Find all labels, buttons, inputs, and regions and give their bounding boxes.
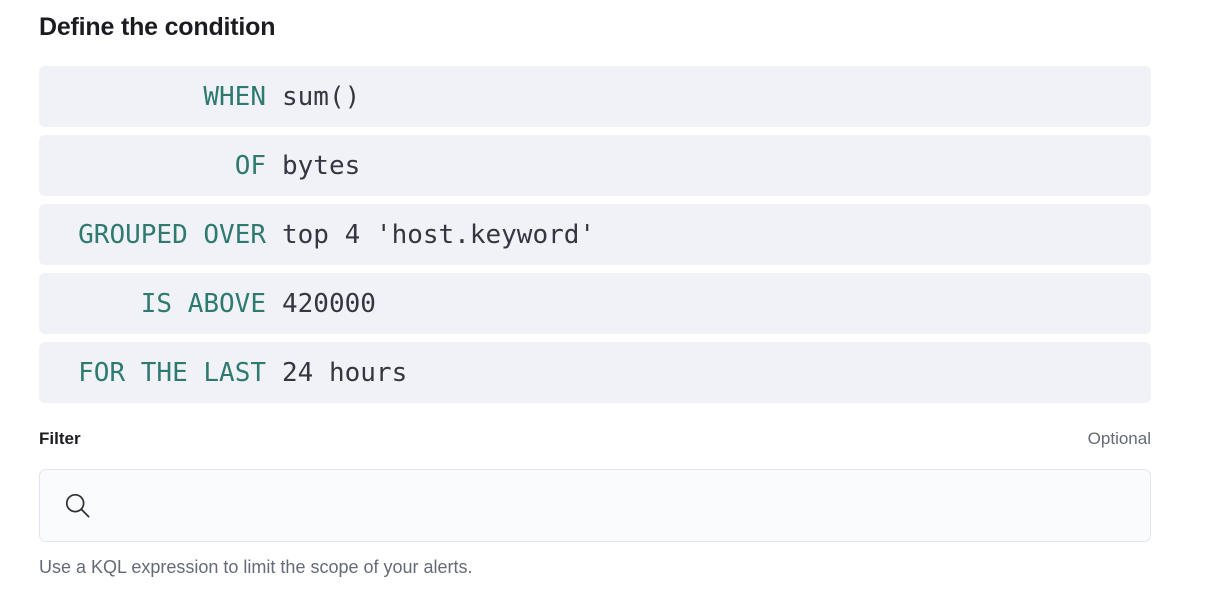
filter-label: Filter <box>39 427 81 451</box>
condition-value-aggregation[interactable]: sum() <box>282 82 360 112</box>
search-icon <box>62 490 94 522</box>
filter-header: Filter Optional <box>39 427 1151 451</box>
page-title: Define the condition <box>39 11 275 43</box>
condition-value-group-by[interactable]: top 4 'host.keyword' <box>282 220 595 250</box>
condition-keyword: WHEN <box>39 82 266 112</box>
condition-value-time-window[interactable]: 24 hours <box>282 358 407 388</box>
condition-value-threshold[interactable]: 420000 <box>282 289 376 319</box>
condition-row-when[interactable]: WHEN sum() <box>39 66 1151 127</box>
condition-row-is-above[interactable]: IS ABOVE 420000 <box>39 273 1151 334</box>
condition-keyword: OF <box>39 151 266 181</box>
filter-help-text: Use a KQL expression to limit the scope … <box>39 554 473 580</box>
condition-row-of[interactable]: OF bytes <box>39 135 1151 196</box>
condition-expression-list: WHEN sum() OF bytes GROUPED OVER top 4 '… <box>39 66 1151 403</box>
condition-value-field[interactable]: bytes <box>282 151 360 181</box>
filter-search-input[interactable] <box>94 470 1150 541</box>
define-condition-panel: Define the condition WHEN sum() OF bytes… <box>0 0 1207 605</box>
condition-row-for-the-last[interactable]: FOR THE LAST 24 hours <box>39 342 1151 403</box>
filter-input-container[interactable] <box>39 469 1151 542</box>
condition-keyword: IS ABOVE <box>39 289 266 319</box>
condition-keyword: FOR THE LAST <box>39 358 266 388</box>
filter-optional-label: Optional <box>1088 427 1151 451</box>
condition-row-grouped-over[interactable]: GROUPED OVER top 4 'host.keyword' <box>39 204 1151 265</box>
condition-keyword: GROUPED OVER <box>39 220 266 250</box>
